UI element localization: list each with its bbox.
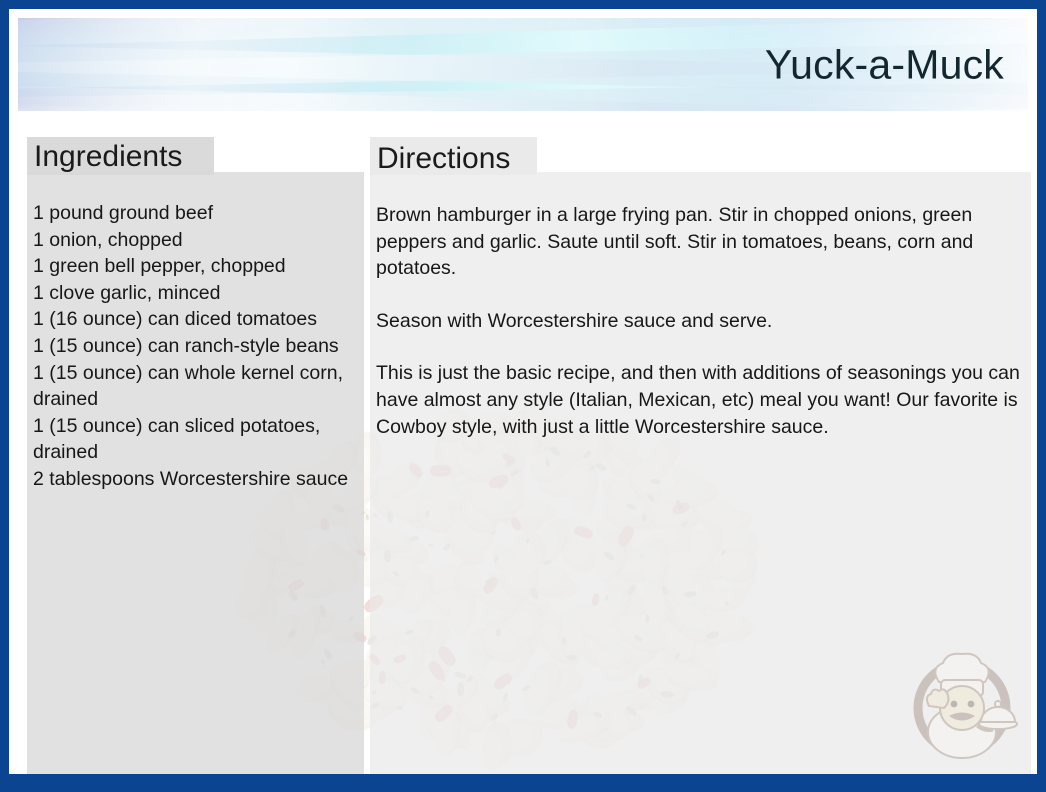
ingredient-item: 1 pound ground beef <box>33 200 355 227</box>
ingredient-item: 1 (15 ounce) can ranch-style beans <box>33 333 355 360</box>
directions-heading: Directions <box>377 142 510 176</box>
ingredient-item: 1 clove garlic, minced <box>33 280 355 307</box>
ingredient-item: 1 green bell pepper, chopped <box>33 253 355 280</box>
ingredient-item: 1 (15 ounce) can sliced potatoes, draine… <box>33 413 355 466</box>
recipe-title: Yuck-a-Muck <box>765 41 1004 88</box>
herb-fleck <box>365 514 369 521</box>
ingredient-item: 1 onion, chopped <box>33 227 355 254</box>
direction-paragraph: Brown hamburger in a large frying pan. S… <box>376 202 1024 282</box>
card-inner-surface: Yuck-a-Muck Ingredients Directions 1 pou… <box>9 9 1037 774</box>
ingredient-item: 1 (15 ounce) can whole kernel corn, drai… <box>33 360 355 413</box>
ingredient-item: 1 (16 ounce) can diced tomatoes <box>33 306 355 333</box>
ingredients-list: 1 pound ground beef1 onion, chopped1 gre… <box>33 200 355 493</box>
ingredient-item: 2 tablespoons Worcestershire sauce <box>33 466 355 493</box>
direction-paragraph: This is just the basic recipe, and then … <box>376 360 1024 440</box>
header-banner: Yuck-a-Muck <box>18 18 1028 111</box>
ingredients-heading: Ingredients <box>34 140 182 174</box>
directions-list: Brown hamburger in a large frying pan. S… <box>376 202 1024 440</box>
direction-paragraph: Season with Worcestershire sauce and ser… <box>376 308 1024 335</box>
recipe-card: Yuck-a-Muck Ingredients Directions 1 pou… <box>0 0 1046 792</box>
